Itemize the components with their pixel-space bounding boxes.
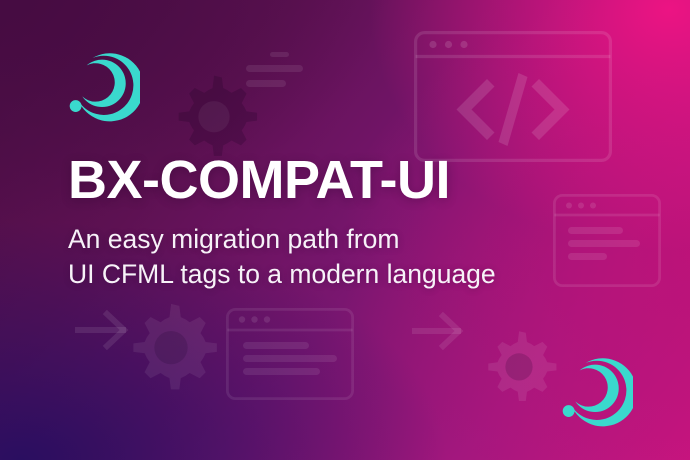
banner-image: BX-COMPAT-UI An easy migration path from… xyxy=(0,0,690,460)
boxlang-logo-bottom-right xyxy=(559,357,633,431)
card-right xyxy=(553,194,661,287)
arrow-left xyxy=(75,310,135,350)
subtitle-line-1: An easy migration path from xyxy=(68,208,496,257)
gear-bottom-right xyxy=(479,328,559,408)
subtitle-line-2: UI CFML tags to a modern language xyxy=(68,257,496,292)
bars-top xyxy=(246,52,308,92)
boxlang-logo-top-left xyxy=(66,52,140,126)
gear-bottom-left xyxy=(122,300,220,398)
card-bottom xyxy=(226,308,354,400)
page-title: BX-COMPAT-UI xyxy=(68,152,496,208)
code-symbol xyxy=(457,73,570,146)
text-block: BX-COMPAT-UI An easy migration path from… xyxy=(68,152,496,292)
browser-window-code xyxy=(414,31,612,162)
arrow-right xyxy=(412,312,470,350)
